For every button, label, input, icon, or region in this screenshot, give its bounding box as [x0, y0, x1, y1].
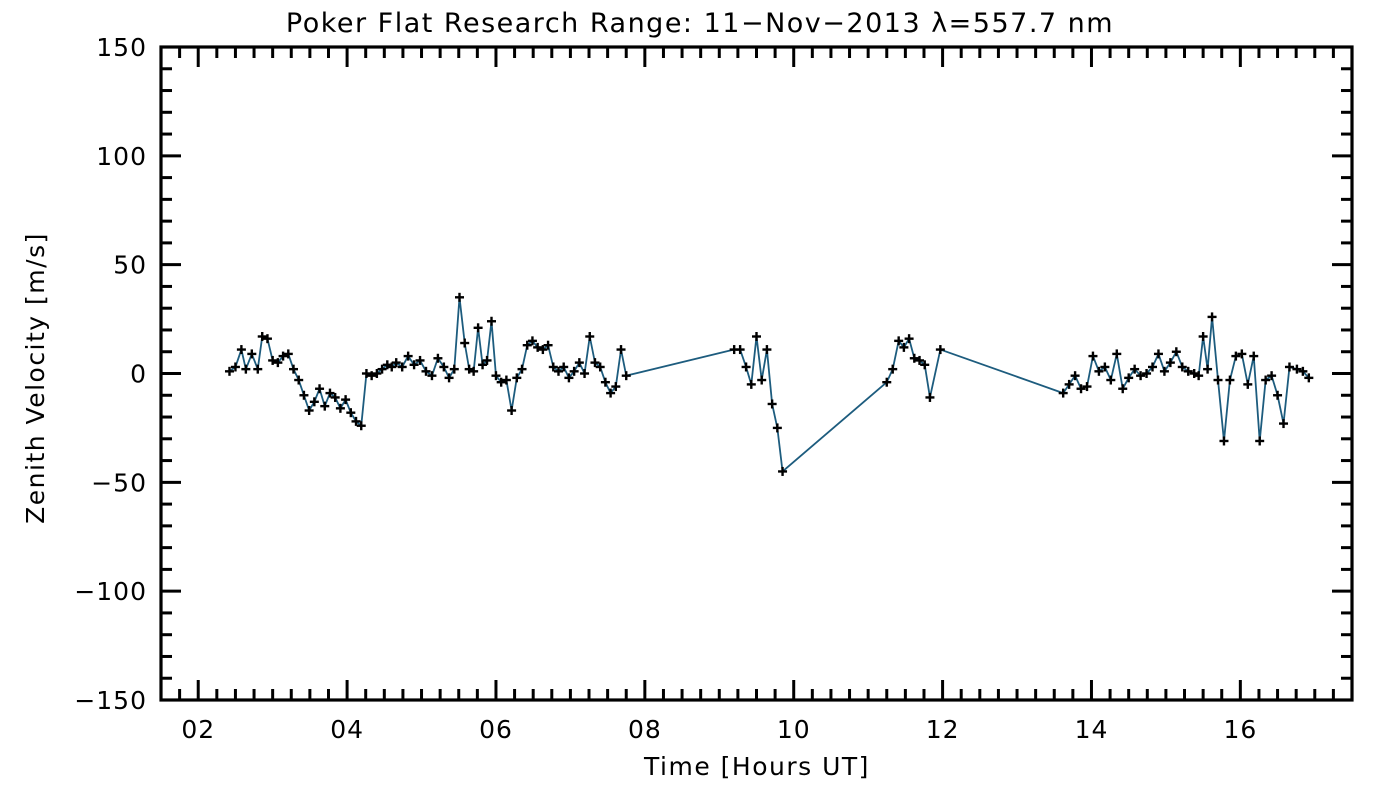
data-point-marker — [925, 393, 934, 402]
series-line — [229, 297, 1308, 471]
y-tick-label: 50 — [113, 251, 147, 280]
data-point-marker — [1112, 349, 1121, 358]
data-series-group — [225, 293, 1313, 476]
data-point-marker — [294, 376, 303, 385]
data-point-marker — [1208, 312, 1217, 321]
data-point-marker — [773, 423, 782, 432]
data-point-marker — [346, 408, 355, 417]
x-tick-label: 14 — [1075, 715, 1109, 744]
zenith-velocity-chart: Poker Flat Research Range: 11−Nov−2013 λ… — [0, 0, 1400, 800]
data-point-marker — [247, 349, 256, 358]
data-point-marker — [315, 384, 324, 393]
data-point-marker — [1249, 352, 1258, 361]
data-point-marker — [1273, 391, 1282, 400]
data-point-marker — [450, 365, 459, 374]
y-tick-label: 0 — [130, 360, 147, 389]
data-point-marker — [474, 323, 483, 332]
data-point-marker — [757, 376, 766, 385]
x-axis-tick-labels: 0204060810121416 — [181, 715, 1257, 744]
data-point-marker — [1214, 376, 1223, 385]
y-axis-title: Zenith Velocity [m/s] — [21, 232, 50, 524]
data-point-marker — [905, 334, 914, 343]
data-point-marker — [575, 358, 584, 367]
chart-page: Poker Flat Research Range: 11−Nov−2013 λ… — [0, 0, 1400, 800]
y-axis-ticks — [161, 47, 1352, 700]
y-tick-label: −100 — [74, 577, 147, 606]
x-tick-label: 04 — [330, 715, 364, 744]
data-point-marker — [237, 345, 246, 354]
data-point-marker — [512, 373, 521, 382]
data-point-marker — [518, 365, 527, 374]
data-point-marker — [1172, 347, 1181, 356]
data-point-marker — [1088, 352, 1097, 361]
data-point-marker — [1225, 376, 1234, 385]
data-point-marker — [585, 332, 594, 341]
data-point-marker — [752, 332, 761, 341]
data-point-marker — [487, 317, 496, 326]
data-point-marker — [768, 399, 777, 408]
y-tick-label: 100 — [96, 142, 147, 171]
y-tick-label: 150 — [96, 33, 147, 62]
x-tick-label: 12 — [926, 715, 960, 744]
data-series — [225, 293, 1313, 476]
data-point-marker — [736, 345, 745, 354]
data-point-marker — [305, 406, 314, 415]
data-point-marker — [747, 380, 756, 389]
chart-title: Poker Flat Research Range: 11−Nov−2013 λ… — [286, 8, 1114, 39]
data-point-marker — [289, 365, 298, 374]
data-point-marker — [1118, 384, 1127, 393]
data-point-marker — [1255, 436, 1264, 445]
x-tick-label: 10 — [777, 715, 811, 744]
data-point-marker — [1243, 380, 1252, 389]
data-point-marker — [936, 345, 945, 354]
data-point-marker — [1219, 436, 1228, 445]
data-point-marker — [507, 406, 516, 415]
data-point-marker — [762, 345, 771, 354]
data-point-marker — [241, 365, 250, 374]
data-point-marker — [310, 397, 319, 406]
data-point-marker — [1106, 376, 1115, 385]
y-axis-tick-labels: −150−100−50050100150 — [74, 33, 147, 715]
data-point-marker — [320, 402, 329, 411]
y-tick-label: −150 — [74, 686, 147, 715]
data-point-marker — [888, 365, 897, 374]
data-point-marker — [460, 339, 469, 348]
data-point-marker — [1203, 365, 1212, 374]
axis-frame — [161, 47, 1352, 700]
data-point-marker — [341, 395, 350, 404]
data-point-marker — [580, 369, 589, 378]
data-point-marker — [455, 293, 464, 302]
data-point-marker — [336, 404, 345, 413]
x-tick-label: 08 — [628, 715, 662, 744]
data-point-marker — [253, 365, 262, 374]
x-tick-label: 02 — [181, 715, 215, 744]
data-point-marker — [1199, 332, 1208, 341]
data-point-marker — [601, 378, 610, 387]
data-point-marker — [445, 373, 454, 382]
data-point-marker — [1154, 349, 1163, 358]
x-axis-title: Time [Hours UT] — [643, 752, 870, 781]
x-tick-label: 06 — [479, 715, 513, 744]
data-point-marker — [742, 362, 751, 371]
y-tick-label: −50 — [91, 468, 147, 497]
x-tick-label: 16 — [1223, 715, 1257, 744]
data-point-marker — [299, 391, 308, 400]
data-point-marker — [1279, 419, 1288, 428]
x-axis-ticks — [161, 47, 1352, 700]
data-point-marker — [622, 371, 631, 380]
data-point-marker — [617, 345, 626, 354]
